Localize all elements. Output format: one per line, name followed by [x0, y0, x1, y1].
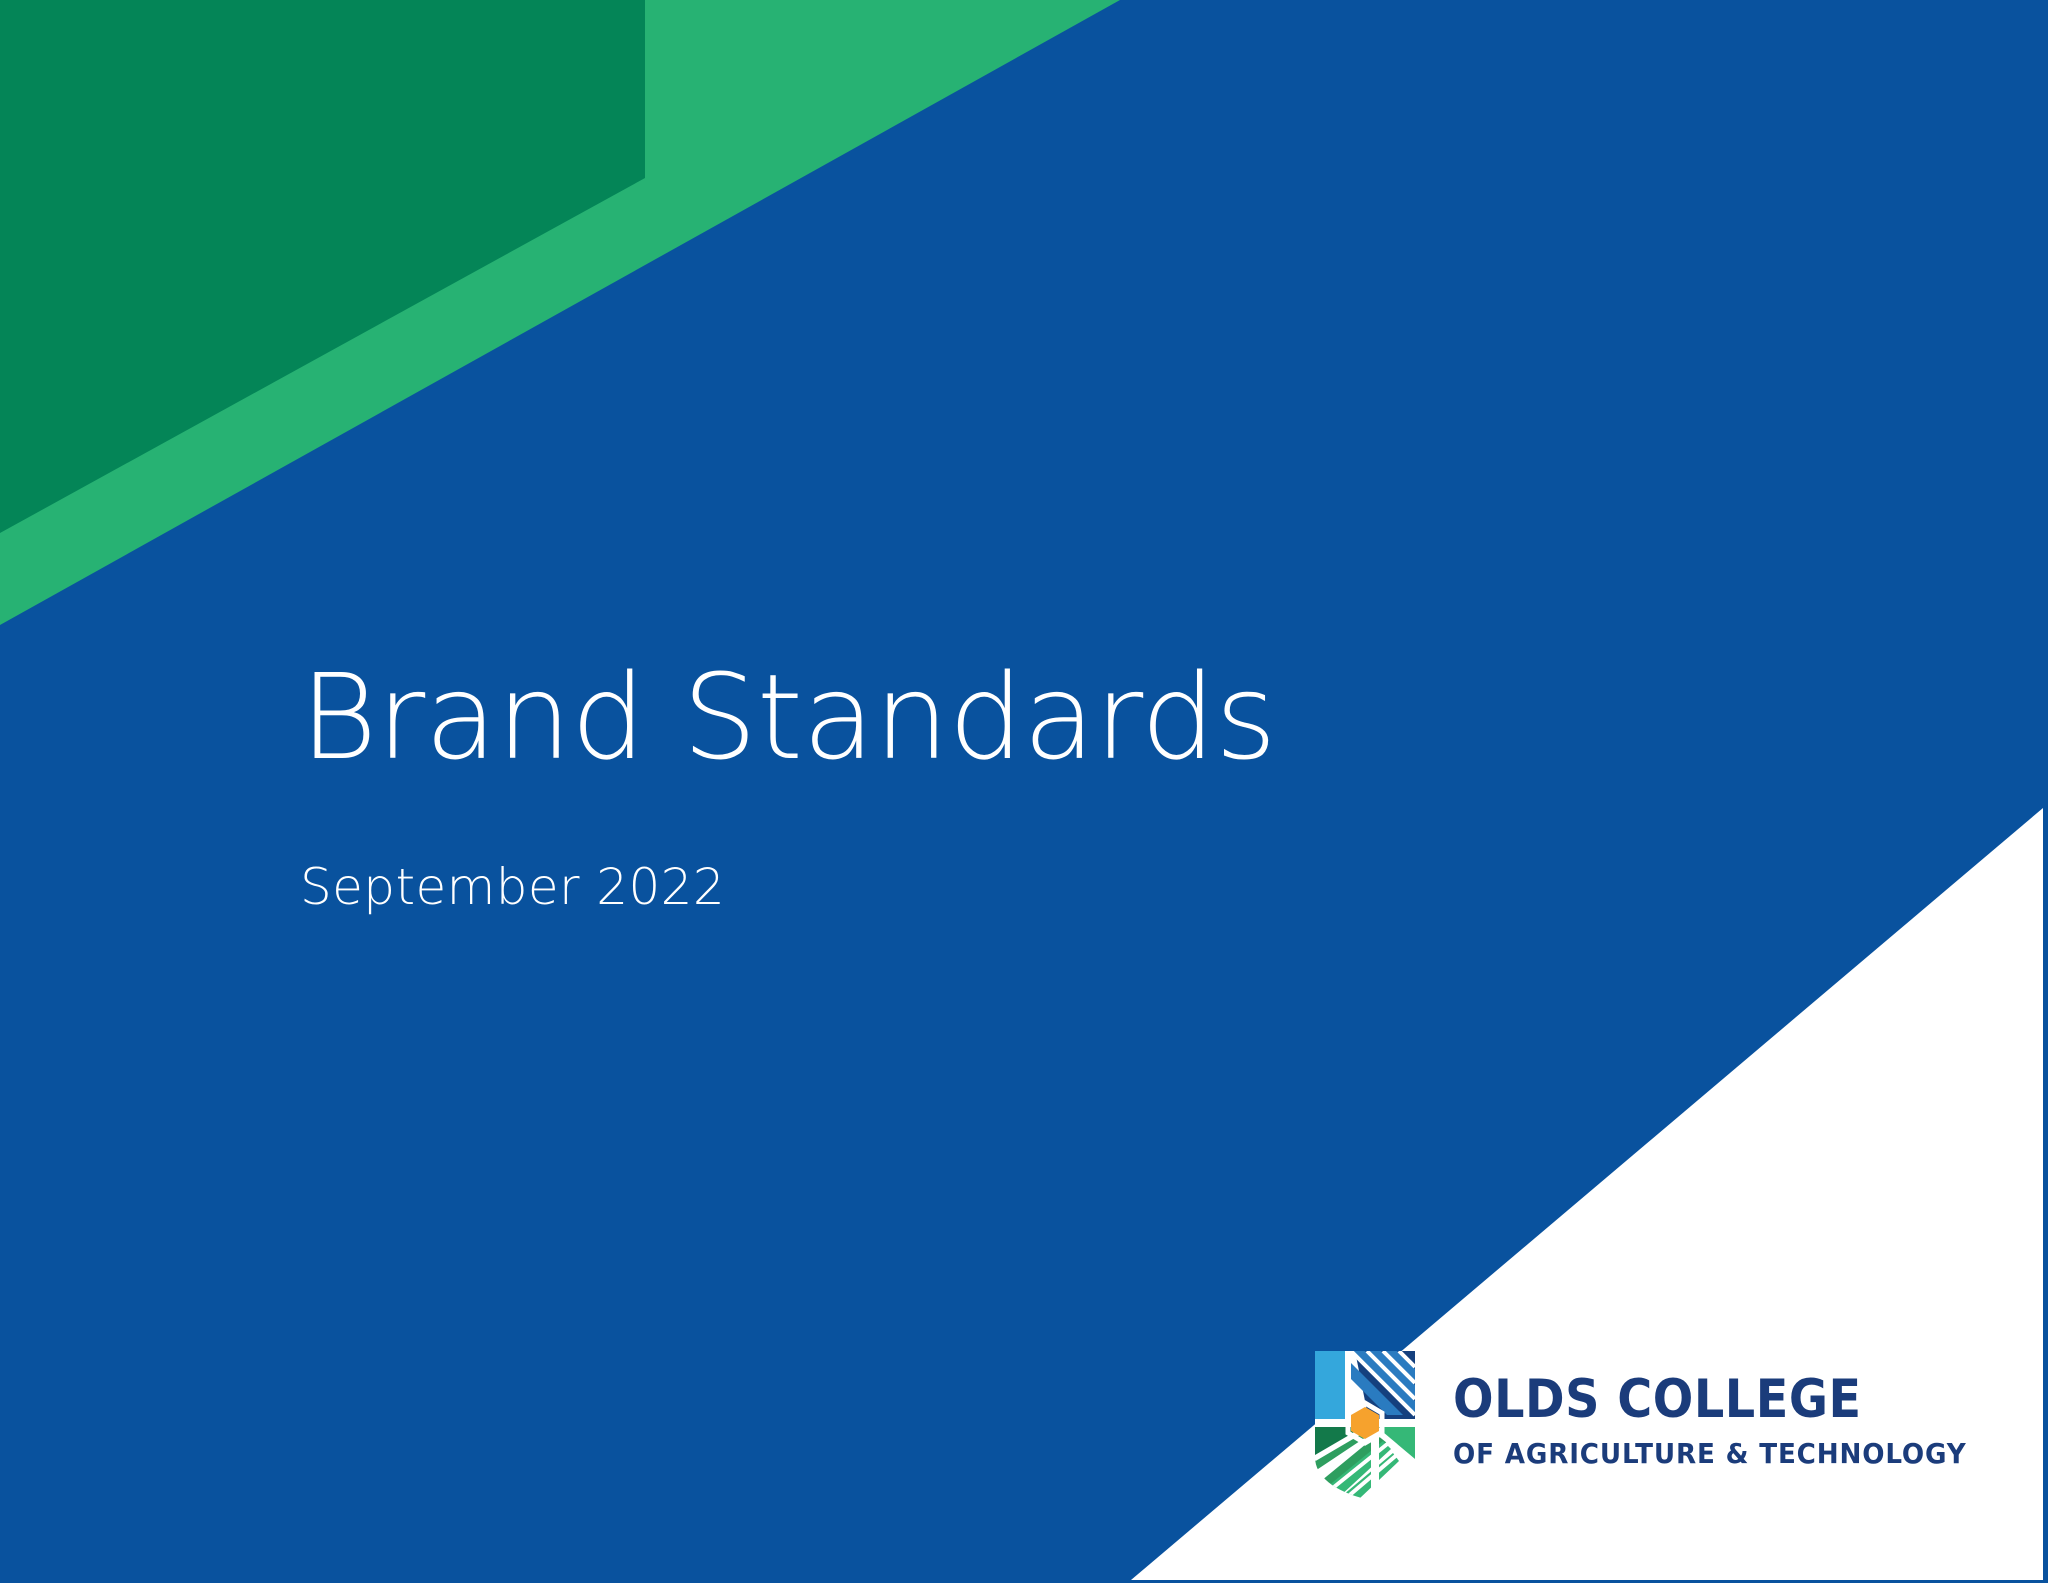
title-block: Brand Standards September 2022	[300, 655, 1500, 915]
olds-college-shield-icon	[1313, 1349, 1417, 1501]
slide-canvas: Brand Standards September 2022	[0, 0, 2048, 1583]
wordmark-secondary: OF AGRICULTURE & TECHNOLOGY	[1453, 1426, 1967, 1468]
wordmark: OLDS COLLEGE OF AGRICULTURE & TECHNOLOGY	[1417, 1349, 2002, 1468]
slide-date: September 2022	[300, 780, 1500, 915]
wordmark-primary: OLDS COLLEGE	[1453, 1373, 1947, 1426]
olds-college-logo: OLDS COLLEGE OF AGRICULTURE & TECHNOLOGY	[1313, 1349, 1933, 1501]
page-title: Brand Standards	[300, 655, 1500, 780]
